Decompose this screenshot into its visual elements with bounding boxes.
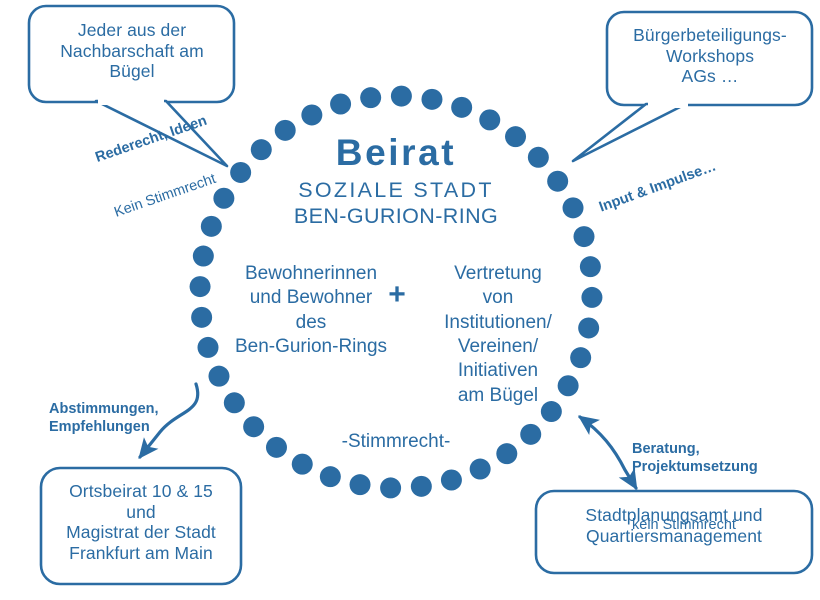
label-beratung-projektumsetzung: Beratung, Projektumsetzung kein Stimmrec…	[632, 400, 758, 574]
ring-dot	[421, 89, 442, 110]
box-bottom-right-text: Stadtplanungsamt und Quartiersmanagement	[538, 505, 810, 546]
ring-dot	[380, 477, 401, 498]
center-subtitle-1: SOZIALE STADT	[246, 178, 546, 203]
ring-dot	[191, 307, 212, 328]
ring-dot	[243, 416, 264, 437]
ring-dot	[224, 392, 245, 413]
speech-bubble-top-left-text: Jeder aus der Nachbarschaft am Bügel	[32, 20, 232, 82]
label-abstimmungen-empfehlungen-bold: Abstimmungen, Empfehlungen	[49, 400, 159, 436]
center-footer-stimmrecht: -Stimmrecht-	[296, 431, 496, 453]
label-input-impulse-bold: Input & Impulse…	[597, 157, 719, 216]
ring-dot	[563, 197, 584, 218]
ring-dot	[391, 86, 412, 107]
ring-dot	[441, 470, 462, 491]
speech-bubble-top-right-text: Bürgerbeteiligungs- Workshops AGs …	[610, 25, 810, 87]
label-kein-stimmrecht: Kein Stimmrecht	[112, 167, 228, 222]
ring-dot	[581, 287, 602, 308]
ring-dot	[547, 171, 568, 192]
ring-dot	[470, 459, 491, 480]
ring-dot	[190, 276, 211, 297]
box-bottom-left-text: Ortsbeirat 10 & 15 und Magistrat der Sta…	[43, 481, 239, 564]
label-abstimmungen-empfehlungen: Abstimmungen, Empfehlungen	[49, 360, 159, 476]
ring-dot	[301, 104, 322, 125]
ring-dot	[360, 87, 381, 108]
diagram-canvas: Jeder aus der Nachbarschaft am Bügel Red…	[0, 0, 820, 600]
plus-icon: +	[384, 280, 410, 310]
ring-dot	[198, 337, 219, 358]
center-left-column: Bewohnerinnen und Bewohner des Ben-Gurio…	[222, 262, 400, 359]
arrow-beratung	[580, 417, 636, 488]
ring-dot	[193, 246, 214, 267]
ring-dot	[266, 437, 287, 458]
center-title: Beirat	[246, 131, 546, 175]
label-beratung-projektumsetzung-bold: Beratung, Projektumsetzung	[632, 440, 758, 476]
ring-dot	[350, 474, 371, 495]
ring-dot	[320, 466, 341, 487]
ring-dot	[479, 109, 500, 130]
ring-dot	[574, 226, 595, 247]
ring-dot	[520, 424, 541, 445]
ring-dot	[496, 443, 517, 464]
center-right-column: Vertretung von Institutionen/ Vereinen/ …	[412, 262, 584, 408]
label-rederecht-ideen-bold: Rederecht, Ideen	[93, 112, 209, 167]
ring-dot	[208, 366, 229, 387]
ring-dot	[330, 94, 351, 115]
ring-dot	[451, 97, 472, 118]
ring-dot	[292, 454, 313, 475]
ring-dot	[411, 476, 432, 497]
center-subtitle-2: BEN-GURION-RING	[246, 204, 546, 229]
